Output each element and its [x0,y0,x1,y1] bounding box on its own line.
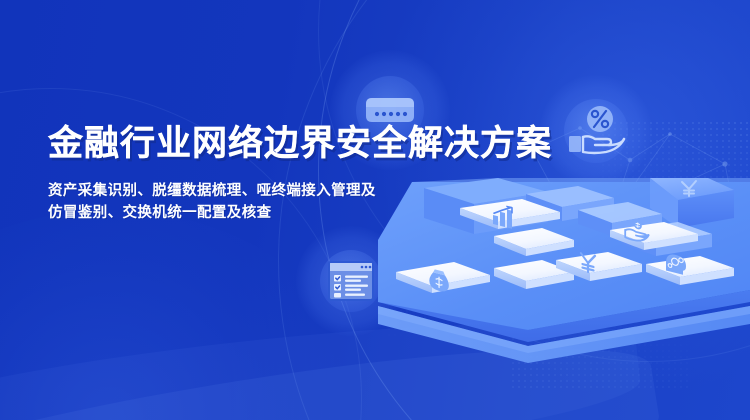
page-title: 金融行业网络边界安全解决方案 [48,122,552,166]
banner-text-block: 金融行业网络边界安全解决方案 资产采集识别、脱缰数据梳理、哑终端接入管理及 仿冒… [48,122,552,224]
badge-percent-hand [540,75,652,187]
subtitle-line-1: 资产采集识别、脱缰数据梳理、哑终端接入管理及 [48,180,552,202]
page-subtitle: 资产采集识别、脱缰数据梳理、哑终端接入管理及 仿冒鉴别、交换机统一配置及核查 [48,180,552,224]
checklist-document-icon [325,258,377,304]
subtitle-line-2: 仿冒鉴别、交换机统一配置及核查 [48,202,552,224]
solution-banner: 金融行业网络边界安全解决方案 资产采集识别、脱缰数据梳理、哑终端接入管理及 仿冒… [0,0,750,420]
percent-hand-icon [564,103,628,159]
